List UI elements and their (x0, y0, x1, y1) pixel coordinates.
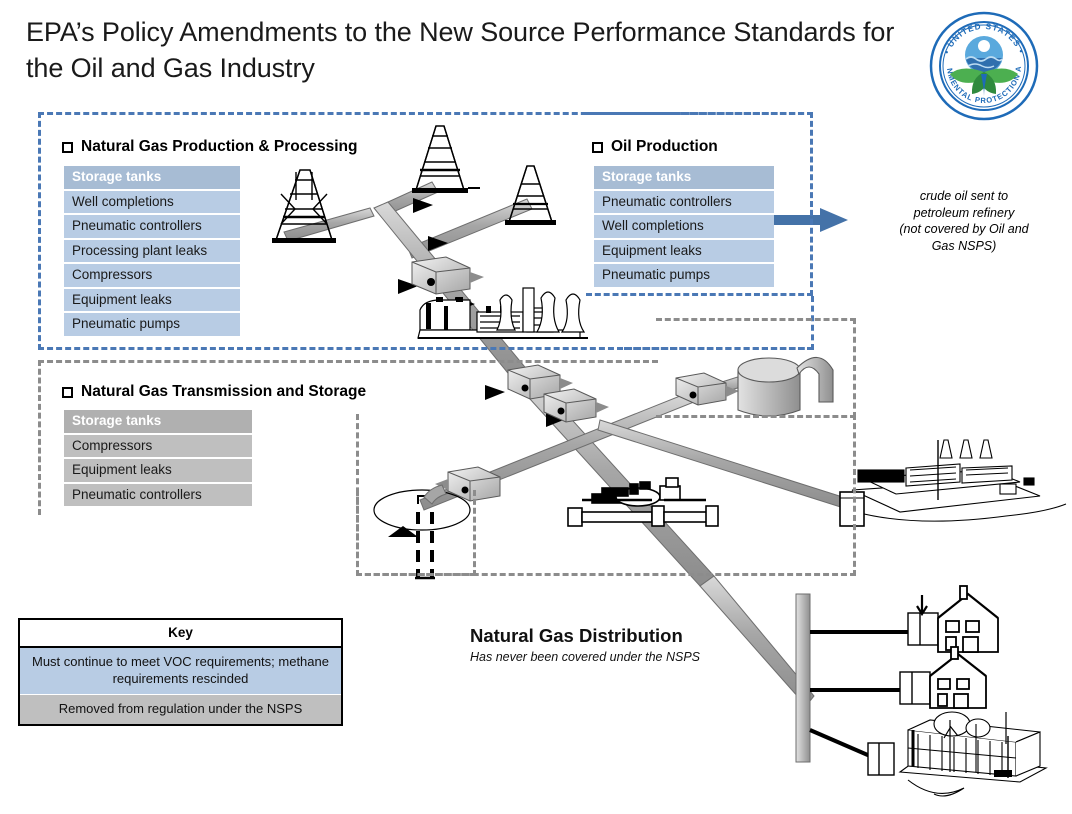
industrial-facility (840, 440, 1066, 526)
list-item[interactable]: Pneumatic controllers (64, 484, 252, 507)
list-item[interactable]: Equipment leaks (64, 289, 240, 312)
house-2 (930, 647, 986, 708)
section-heading-natural-gas-transmission-storage: Natural Gas Transmission and Storage (62, 383, 366, 401)
list-item[interactable]: Pneumatic controllers (594, 191, 774, 214)
residential-meter-1 (908, 595, 938, 645)
residential-meter-2 (900, 672, 930, 704)
checkbox-square-icon (62, 142, 73, 153)
list-item[interactable]: Storage tanks (594, 166, 774, 189)
page-title: EPA’s Policy Amendments to the New Sourc… (26, 14, 906, 86)
list-item[interactable]: Pneumatic pumps (594, 264, 774, 287)
list-item[interactable]: Storage tanks (64, 410, 252, 433)
annotation-line: Gas NSPS) (866, 238, 1062, 255)
commercial-meter (868, 743, 894, 775)
annotation-line: crude oil sent to (866, 188, 1062, 205)
list-item[interactable]: Pneumatic controllers (64, 215, 240, 238)
key-title: Key (20, 620, 341, 648)
section-heading-oil-production: Oil Production (592, 138, 718, 156)
annotation-line: petroleum refinery (866, 205, 1062, 222)
list-item[interactable]: Compressors (64, 264, 240, 287)
annotation-crude-oil: crude oil sent to petroleum refinery (no… (866, 188, 1062, 254)
list-item[interactable]: Well completions (594, 215, 774, 238)
list-item[interactable]: Pneumatic pumps (64, 313, 240, 336)
distribution-main (796, 594, 810, 762)
item-list-oil-production: Storage tanks Pneumatic controllers Well… (594, 166, 774, 287)
key-row-removed: Removed from regulation under the NSPS (20, 695, 341, 724)
section-heading-natural-gas-production: Natural Gas Production & Processing (62, 138, 357, 156)
list-item[interactable]: Equipment leaks (594, 240, 774, 263)
distribution-title: Natural Gas Distribution (470, 625, 683, 647)
list-item[interactable]: Processing plant leaks (64, 240, 240, 263)
distribution-subtitle: Has never been covered under the NSPS (470, 650, 700, 664)
house-1 (938, 586, 998, 652)
commercial-building (900, 712, 1046, 796)
section-box-transmission-storage-well (356, 490, 476, 576)
list-item[interactable]: Equipment leaks (64, 459, 252, 482)
key-legend: Key Must continue to meet VOC requiremen… (18, 618, 343, 726)
checkbox-square-icon (62, 387, 73, 398)
list-item[interactable]: Well completions (64, 191, 240, 214)
list-item[interactable]: Storage tanks (64, 166, 240, 189)
section-box-transmission-extension-right (656, 318, 856, 418)
epa-seal-logo: • UNITED STATES • ENVIRONMENTAL PROTECTI… (928, 10, 1040, 122)
list-item[interactable]: Compressors (64, 435, 252, 458)
item-list-natural-gas-transmission-storage: Storage tanks Compressors Equipment leak… (64, 410, 252, 506)
key-row-voc: Must continue to meet VOC requirements; … (20, 648, 341, 695)
annotation-line: (not covered by Oil and (866, 221, 1062, 238)
distribution-service-lines (810, 632, 910, 756)
item-list-natural-gas-production: Storage tanks Well completions Pneumatic… (64, 166, 240, 336)
checkbox-square-icon (592, 142, 603, 153)
